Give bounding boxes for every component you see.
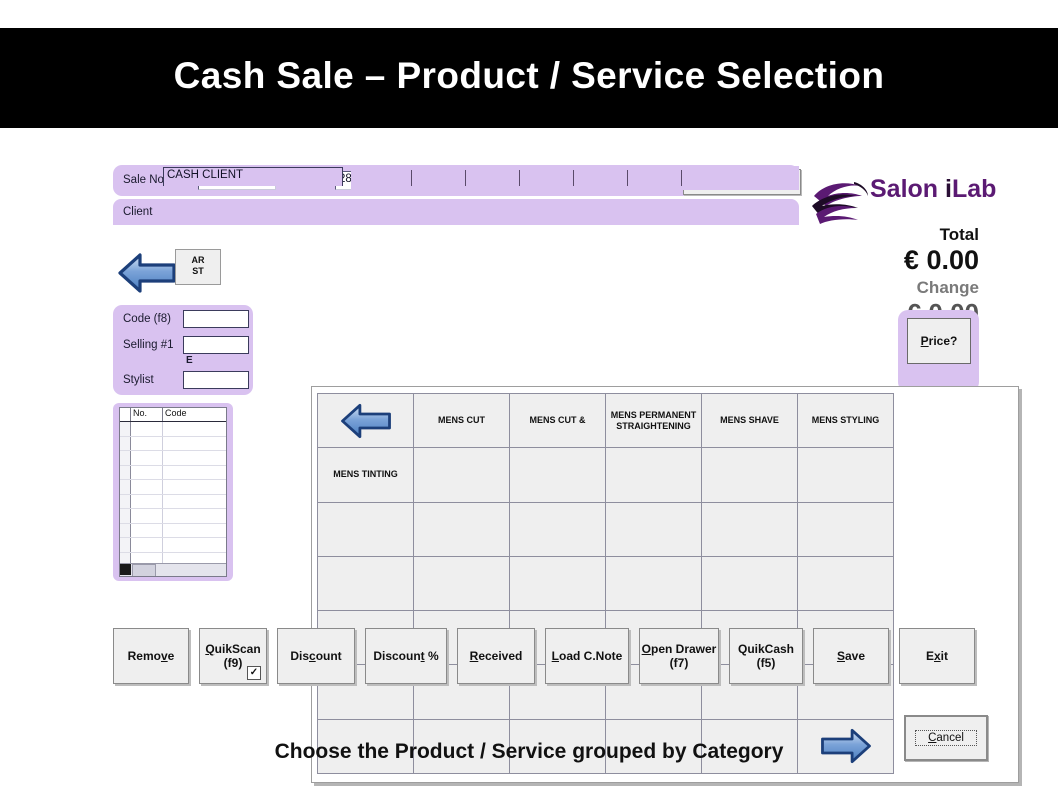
table-row[interactable] bbox=[120, 437, 226, 452]
category-cell[interactable]: MENS SHAVE bbox=[702, 394, 797, 447]
table-row[interactable] bbox=[120, 480, 226, 495]
category-cell-empty bbox=[318, 503, 413, 556]
table-body bbox=[120, 422, 226, 577]
tab-divider bbox=[411, 170, 412, 186]
arrow-left-icon[interactable] bbox=[339, 400, 393, 442]
selling-label: Selling #1 bbox=[123, 339, 174, 351]
table-cell bbox=[120, 422, 131, 436]
category-cell-empty bbox=[606, 557, 701, 610]
table-row[interactable] bbox=[120, 538, 226, 553]
table-row[interactable] bbox=[120, 509, 226, 524]
table-cell bbox=[131, 437, 163, 451]
stylist-field[interactable] bbox=[183, 371, 249, 389]
client-bar bbox=[113, 199, 799, 225]
table-col-select bbox=[120, 408, 131, 421]
quikscan-checkbox[interactable]: ✓ bbox=[247, 666, 261, 680]
scroll-left-button[interactable] bbox=[120, 564, 131, 575]
category-cell[interactable]: MENS TINTING bbox=[318, 448, 413, 501]
table-horizontal-scrollbar[interactable] bbox=[120, 563, 227, 576]
action-button-open-drawer-f7[interactable]: Open Drawer(f7) bbox=[639, 628, 719, 684]
action-button-label: Discount bbox=[290, 649, 341, 663]
category-cell-empty bbox=[318, 557, 413, 610]
category-cell-empty bbox=[414, 557, 509, 610]
pos-application: Sale No. 23 Date 28/08/2014 Cashier Char… bbox=[113, 165, 979, 625]
table-row[interactable] bbox=[120, 422, 226, 437]
total-value: € 0.00 bbox=[904, 245, 979, 276]
action-button-exit[interactable]: Exit bbox=[899, 628, 975, 684]
category-cell[interactable]: MENS STYLING bbox=[798, 394, 893, 447]
action-button-save[interactable]: Save bbox=[813, 628, 889, 684]
table-cell bbox=[131, 480, 163, 494]
arrow-left-icon[interactable] bbox=[116, 249, 178, 297]
currency-marker: E bbox=[186, 355, 193, 366]
brand-name-lab: Lab bbox=[952, 175, 996, 203]
action-button-quikscan-f9[interactable]: QuikScan(f9)✓ bbox=[199, 628, 267, 684]
article-stylist-tab[interactable]: AR ST bbox=[175, 249, 221, 285]
action-button-label: Discount % bbox=[373, 649, 438, 663]
table-cell bbox=[163, 437, 225, 451]
table-cell bbox=[120, 466, 131, 480]
price-button[interactable]: Price? bbox=[907, 318, 971, 364]
category-cell[interactable]: MENS CUT & bbox=[510, 394, 605, 447]
table-cell bbox=[131, 466, 163, 480]
price-panel: Price? bbox=[898, 310, 979, 392]
product-service-selection-dialog: MENS CUTMENS CUT &MENS PERMANENT STRAIGH… bbox=[311, 386, 1019, 783]
table-cell bbox=[120, 509, 131, 523]
sale-no-label: Sale No. bbox=[123, 174, 167, 186]
category-cell-empty bbox=[702, 448, 797, 501]
table-cell bbox=[163, 451, 225, 465]
price-accesskey: P bbox=[921, 334, 929, 348]
slide-caption: Choose the Product / Service grouped by … bbox=[0, 740, 1058, 764]
category-cell-empty bbox=[414, 448, 509, 501]
table-cell bbox=[163, 480, 225, 494]
table-cell bbox=[163, 509, 225, 523]
table-cell bbox=[120, 538, 131, 552]
tab-divider bbox=[573, 170, 574, 186]
brand-name-i: i bbox=[945, 175, 952, 203]
tab-divider bbox=[681, 170, 682, 186]
table-cell bbox=[163, 422, 225, 436]
table-col-no: No. bbox=[131, 408, 163, 421]
category-cell-empty bbox=[702, 557, 797, 610]
table-cell bbox=[131, 422, 163, 436]
category-cell-empty bbox=[510, 557, 605, 610]
category-cell-empty bbox=[798, 557, 893, 610]
table-row[interactable] bbox=[120, 466, 226, 481]
action-button-label: Load C.Note bbox=[552, 649, 623, 663]
action-button-received[interactable]: Received bbox=[457, 628, 535, 684]
price-button-label: rice? bbox=[929, 334, 958, 348]
article-stylist-line2: ST bbox=[192, 266, 204, 276]
table-row[interactable] bbox=[120, 495, 226, 510]
table-cell bbox=[120, 495, 131, 509]
change-label: Change bbox=[917, 278, 979, 298]
table-header-row: No. Code bbox=[120, 408, 226, 422]
action-button-label: QuikCash(f5) bbox=[738, 642, 794, 670]
category-cell-empty bbox=[510, 448, 605, 501]
category-cell-empty bbox=[798, 503, 893, 556]
stylist-label: Stylist bbox=[123, 374, 154, 386]
action-button-label: Remove bbox=[128, 649, 175, 663]
table-cell bbox=[131, 495, 163, 509]
tab-divider bbox=[519, 170, 520, 186]
action-button-quikcash-f5[interactable]: QuikCash(f5) bbox=[729, 628, 803, 684]
category-cell[interactable]: MENS PERMANENT STRAIGHTENING bbox=[606, 394, 701, 447]
action-button-label: Exit bbox=[926, 649, 948, 663]
table-cell bbox=[120, 524, 131, 538]
client-tabstrip[interactable] bbox=[351, 166, 799, 190]
article-stylist-line1: AR bbox=[192, 255, 205, 265]
action-button-label: Received bbox=[470, 649, 523, 663]
category-cell[interactable]: MENS CUT bbox=[414, 394, 509, 447]
client-field[interactable]: CASH CLIENT bbox=[163, 167, 343, 186]
table-cell bbox=[163, 495, 225, 509]
table-cell bbox=[163, 538, 225, 552]
category-cell-empty bbox=[510, 503, 605, 556]
page-title: Cash Sale – Product / Service Selection bbox=[0, 55, 1058, 97]
sale-items-panel: No. Code bbox=[113, 403, 233, 581]
sale-items-table[interactable]: No. Code bbox=[119, 407, 227, 577]
code-field[interactable] bbox=[183, 310, 249, 328]
selling-field[interactable] bbox=[183, 336, 249, 354]
tab-divider bbox=[465, 170, 466, 186]
category-cell-empty bbox=[702, 503, 797, 556]
code-label: Code (f8) bbox=[123, 313, 171, 325]
brand-logo: Salon iLab bbox=[810, 170, 980, 230]
action-button-remove[interactable]: Remove bbox=[113, 628, 189, 684]
total-label: Total bbox=[940, 225, 979, 245]
action-button-bar: RemoveQuikScan(f9)✓DiscountDiscount %Rec… bbox=[113, 628, 979, 686]
action-button-load-c-note[interactable]: Load C.Note bbox=[545, 628, 629, 684]
table-cell bbox=[131, 509, 163, 523]
category-cell-empty bbox=[798, 448, 893, 501]
scrollbar-thumb[interactable] bbox=[132, 564, 156, 577]
action-button-discount[interactable]: Discount bbox=[277, 628, 355, 684]
table-cell bbox=[131, 538, 163, 552]
table-row[interactable] bbox=[120, 524, 226, 539]
tab-divider bbox=[627, 170, 628, 186]
category-cell-empty bbox=[606, 503, 701, 556]
category-cell-empty bbox=[414, 503, 509, 556]
category-cell-empty bbox=[606, 448, 701, 501]
table-cell bbox=[131, 524, 163, 538]
table-cell bbox=[163, 466, 225, 480]
action-button-discount[interactable]: Discount % bbox=[365, 628, 447, 684]
client-label: Client bbox=[123, 206, 152, 218]
action-button-label: Open Drawer(f7) bbox=[642, 642, 717, 670]
table-row[interactable] bbox=[120, 451, 226, 466]
category-grid: MENS CUTMENS CUT &MENS PERMANENT STRAIGH… bbox=[317, 393, 894, 774]
table-cell bbox=[120, 437, 131, 451]
table-cell bbox=[163, 524, 225, 538]
grid-back-arrow-cell[interactable] bbox=[318, 394, 413, 447]
table-cell bbox=[131, 451, 163, 465]
hair-swoosh-icon bbox=[810, 178, 872, 226]
brand-name: Salon iLab bbox=[870, 175, 996, 204]
action-button-label: Save bbox=[837, 649, 865, 663]
table-cell bbox=[120, 480, 131, 494]
table-col-code: Code bbox=[163, 408, 225, 421]
brand-name-salon: Salon bbox=[870, 175, 945, 203]
table-cell bbox=[120, 451, 131, 465]
